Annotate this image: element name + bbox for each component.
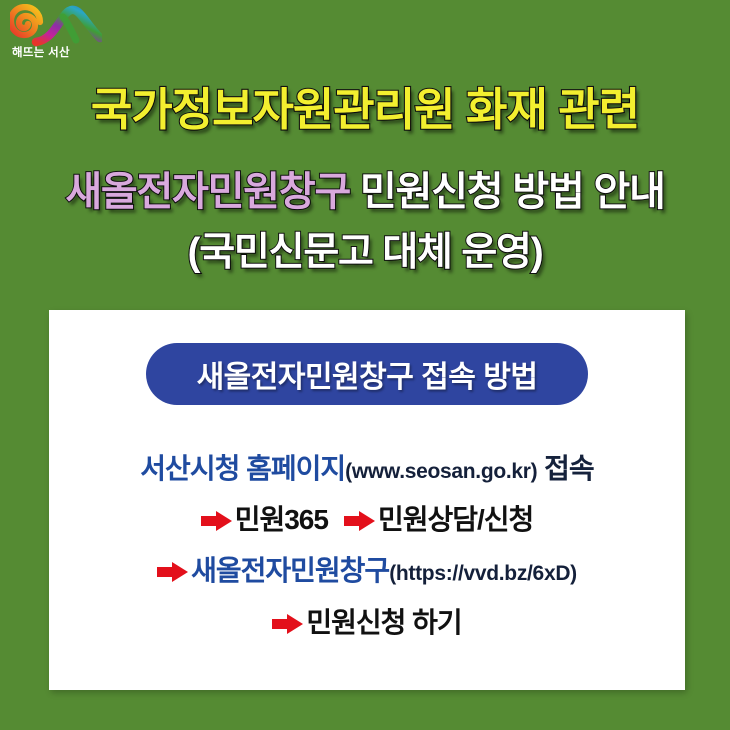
step-1-segment-3: 접속 bbox=[537, 453, 593, 484]
arrow-right-icon bbox=[201, 511, 232, 531]
access-method-banner: 새올전자민원창구 접속 방법 bbox=[146, 343, 588, 405]
headline-line-2-rest: 민원신청 방법 안내 bbox=[350, 170, 665, 214]
headline-line-2-highlight: 새올전자민원창구 bbox=[65, 170, 350, 214]
headline-line-1: 국가정보자원관리원 화재 관련 bbox=[0, 82, 730, 138]
poster-canvas: 해뜨는 서산 국가정보자원관리원 화재 관련 새올전자민원창구 민원신청 방법 … bbox=[0, 0, 730, 730]
step-1-segment-1: 서산시청 홈페이지 bbox=[140, 453, 345, 484]
step-3-segment-1: 새올전자민원창구 bbox=[191, 555, 389, 586]
step-1-segment-2: (www.seosan.go.kr) bbox=[345, 460, 537, 483]
step-item: 민원365민원상담/신청 bbox=[49, 503, 685, 537]
logo-text: 해뜨는 서산 bbox=[12, 44, 108, 60]
headline-line-3: (국민신문고 대체 운영) bbox=[0, 228, 730, 278]
seosan-city-logo: 해뜨는 서산 bbox=[8, 4, 112, 64]
arrow-right-icon bbox=[272, 614, 303, 634]
step-item: 서산시청 홈페이지(www.seosan.go.kr) 접속 bbox=[49, 452, 685, 486]
content-card: 새올전자민원창구 접속 방법 서산시청 홈페이지(www.seosan.go.k… bbox=[49, 310, 685, 690]
step-item: 민원신청 하기 bbox=[49, 606, 685, 640]
step-3-segment-2: (https://vvd.bz/6xD) bbox=[389, 562, 577, 585]
step-4-segment-1: 민원신청 하기 bbox=[306, 607, 461, 638]
step-item: 새올전자민원창구(https://vvd.bz/6xD) bbox=[49, 554, 685, 588]
arrow-right-icon bbox=[157, 562, 188, 582]
step-2-segment-1: 민원365 bbox=[235, 504, 328, 535]
step-2-segment-2: 민원상담/신청 bbox=[378, 504, 533, 535]
logo-mark-icon bbox=[10, 4, 102, 48]
arrow-right-icon bbox=[344, 511, 375, 531]
headline-line-2: 새올전자민원창구 민원신청 방법 안내 bbox=[0, 167, 730, 217]
access-method-banner-label: 새올전자민원창구 접속 방법 bbox=[197, 352, 538, 396]
